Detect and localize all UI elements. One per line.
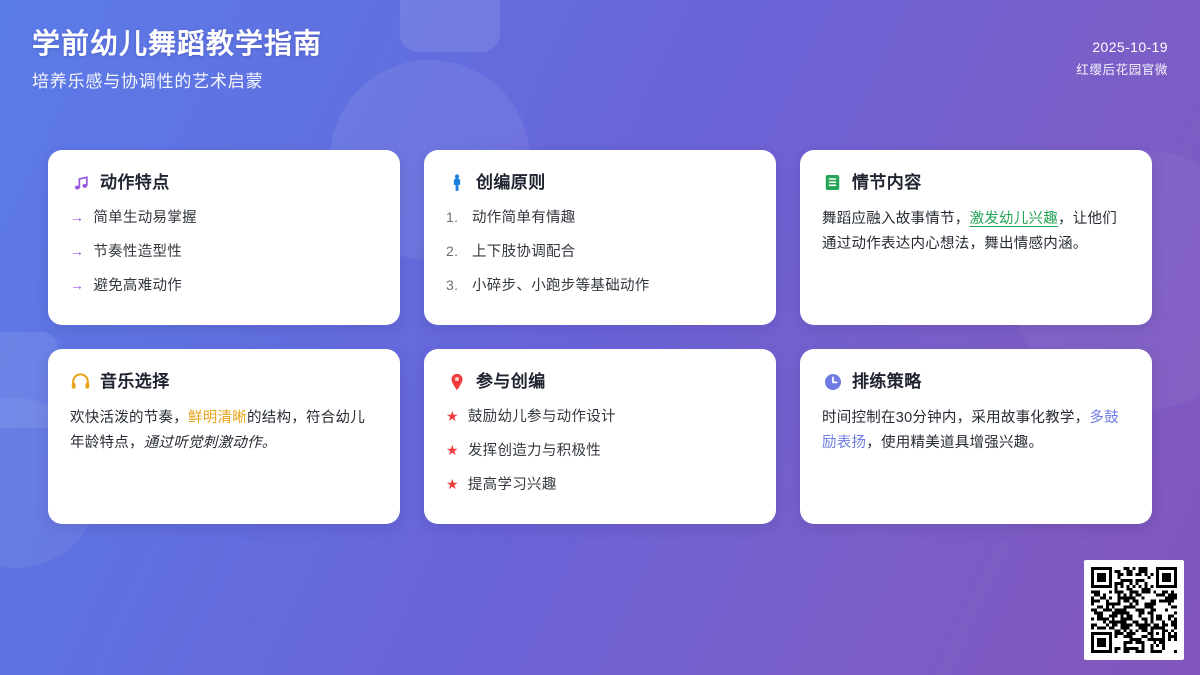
card-header: 创编原则	[446, 172, 754, 193]
card-header: 排练策略	[822, 371, 1130, 392]
card-title: 参与创编	[476, 373, 546, 390]
emphasis-italic: 通过听觉刺激动作。	[144, 435, 277, 451]
number-bullet: 3.	[446, 275, 463, 295]
page-title: 学前幼儿舞蹈教学指南	[32, 26, 322, 62]
music-note-icon	[70, 172, 91, 193]
card-paragraph: 时间控制在30分钟内，采用故事化教学，多鼓励表扬，使用精美道具增强兴趣。	[822, 406, 1130, 456]
paragraph-text: 欢快活泼的节奏，	[70, 410, 188, 426]
headphones-icon	[70, 371, 91, 392]
card-paragraph: 舞蹈应融入故事情节，激发幼儿兴趣，让他们通过动作表达内心想法，舞出情感内涵。	[822, 207, 1130, 257]
card-title: 音乐选择	[100, 373, 170, 390]
list-item: →简单生动易掌握	[70, 207, 378, 229]
paragraph-text: 舞蹈应融入故事情节，	[822, 211, 970, 227]
number-bullet: 1.	[446, 207, 463, 227]
list-item: 3.小碎步、小跑步等基础动作	[446, 275, 754, 297]
card-header: 参与创编	[446, 371, 754, 392]
publisher-name: 红缨后花园官微	[1076, 60, 1168, 80]
list-item-label: 避免高难动作	[93, 276, 182, 297]
clock-icon	[822, 371, 843, 392]
qr-code-container[interactable]	[1084, 560, 1184, 660]
qr-code[interactable]	[1091, 567, 1177, 653]
list-item-label: 鼓励幼儿参与动作设计	[468, 407, 616, 428]
list-item-label: 发挥创造力与积极性	[468, 441, 601, 462]
number-bullet: 2.	[446, 241, 463, 261]
card-list: ★鼓励幼儿参与动作设计★发挥创造力与积极性★提高学习兴趣	[446, 406, 754, 496]
card-list: →简单生动易掌握→节奏性造型性→避免高难动作	[70, 207, 378, 297]
card-title: 动作特点	[100, 174, 170, 191]
star-bullet-icon: ★	[446, 406, 459, 426]
card-grid: 动作特点→简单生动易掌握→节奏性造型性→避免高难动作创编原则1.动作简单有情趣2…	[48, 150, 1152, 524]
card-choreography-principles: 创编原则1.动作简单有情趣2.上下肢协调配合3.小碎步、小跑步等基础动作	[424, 150, 776, 325]
poster-header: 学前幼儿舞蹈教学指南 培养乐感与协调性的艺术启蒙 2025-10-19 红缨后花…	[0, 0, 1200, 128]
arrow-bullet-icon: →	[70, 207, 84, 227]
card-title: 创编原则	[476, 174, 546, 191]
card-list: 1.动作简单有情趣2.上下肢协调配合3.小碎步、小跑步等基础动作	[446, 207, 754, 297]
list-item-label: 节奏性造型性	[93, 242, 182, 263]
list-item-label: 动作简单有情趣	[472, 208, 576, 229]
card-rehearsal-strategy: 排练策略时间控制在30分钟内，采用故事化教学，多鼓励表扬，使用精美道具增强兴趣。	[800, 349, 1152, 524]
list-item-label: 提高学习兴趣	[468, 475, 557, 496]
list-item: 2.上下肢协调配合	[446, 241, 754, 263]
list-item: ★鼓励幼儿参与动作设计	[446, 406, 754, 428]
list-item-label: 小碎步、小跑步等基础动作	[472, 276, 650, 297]
highlight-amber: 鲜明清晰	[188, 410, 247, 426]
card-participate-creation: 参与创编★鼓励幼儿参与动作设计★发挥创造力与积极性★提高学习兴趣	[424, 349, 776, 524]
page-subtitle: 培养乐感与协调性的艺术启蒙	[32, 71, 322, 93]
poster-root: 学前幼儿舞蹈教学指南 培养乐感与协调性的艺术启蒙 2025-10-19 红缨后花…	[0, 0, 1200, 675]
paragraph-text: ，使用精美道具增强兴趣。	[866, 435, 1043, 451]
child-person-icon	[446, 172, 467, 193]
card-header: 音乐选择	[70, 371, 378, 392]
list-item: →节奏性造型性	[70, 241, 378, 263]
location-pin-icon	[446, 371, 467, 392]
card-header: 动作特点	[70, 172, 378, 193]
card-title: 排练策略	[852, 373, 922, 390]
publish-date: 2025-10-19	[1092, 36, 1168, 58]
arrow-bullet-icon: →	[70, 241, 84, 261]
list-item: ★发挥创造力与积极性	[446, 440, 754, 462]
green-book-icon	[822, 172, 843, 193]
card-story-content: 情节内容舞蹈应融入故事情节，激发幼儿兴趣，让他们通过动作表达内心想法，舞出情感内…	[800, 150, 1152, 325]
star-bullet-icon: ★	[446, 474, 459, 494]
card-music-selection: 音乐选择欢快活泼的节奏，鲜明清晰的结构，符合幼儿年龄特点，通过听觉刺激动作。	[48, 349, 400, 524]
list-item: →避免高难动作	[70, 275, 378, 297]
card-paragraph: 欢快活泼的节奏，鲜明清晰的结构，符合幼儿年龄特点，通过听觉刺激动作。	[70, 406, 378, 456]
card-title: 情节内容	[852, 174, 922, 191]
arrow-bullet-icon: →	[70, 275, 84, 295]
highlight-link-green[interactable]: 激发幼儿兴趣	[970, 211, 1059, 227]
paragraph-text: 时间控制在30分钟内，采用故事化教学，	[822, 410, 1089, 426]
list-item: ★提高学习兴趣	[446, 474, 754, 496]
star-bullet-icon: ★	[446, 440, 459, 460]
header-title-block: 学前幼儿舞蹈教学指南 培养乐感与协调性的艺术启蒙	[32, 26, 322, 93]
header-meta-block: 2025-10-19 红缨后花园官微	[1076, 26, 1168, 80]
card-header: 情节内容	[822, 172, 1130, 193]
list-item-label: 上下肢协调配合	[472, 242, 576, 263]
card-motion-features: 动作特点→简单生动易掌握→节奏性造型性→避免高难动作	[48, 150, 400, 325]
list-item: 1.动作简单有情趣	[446, 207, 754, 229]
list-item-label: 简单生动易掌握	[93, 208, 197, 229]
